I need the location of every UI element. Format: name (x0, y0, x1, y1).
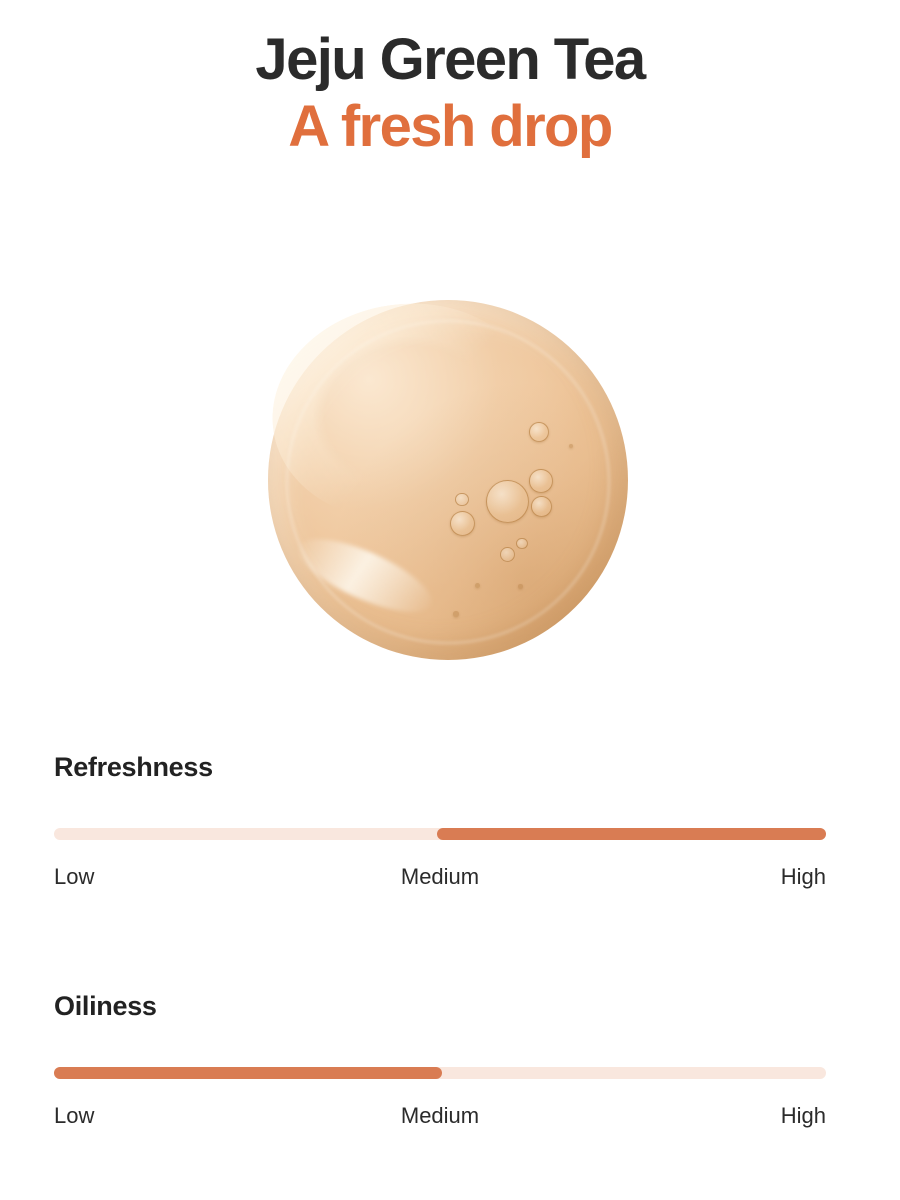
scale-label-low: Low (54, 1103, 94, 1129)
metric-refreshness: Refreshness Low Medium High (54, 752, 826, 892)
metric-refreshness-label: Refreshness (54, 752, 826, 783)
droplet-body (268, 300, 628, 660)
scale-label-high: High (781, 864, 826, 890)
serum-droplet-image (268, 300, 628, 660)
scale-label-low: Low (54, 864, 94, 890)
metric-refreshness-slider-fill (437, 828, 826, 840)
title-secondary: A fresh drop (0, 93, 900, 160)
scale-label-high: High (781, 1103, 826, 1129)
metric-refreshness-scale: Low Medium High (54, 864, 826, 892)
page-title: Jeju Green Tea A fresh drop (0, 26, 900, 161)
metric-refreshness-slider[interactable] (54, 828, 826, 840)
metric-oiliness-slider[interactable] (54, 1067, 826, 1079)
metric-oiliness-label: Oiliness (54, 991, 826, 1022)
scale-label-medium: Medium (401, 1103, 479, 1129)
metric-oiliness-scale: Low Medium High (54, 1103, 826, 1131)
metric-oiliness-slider-fill (54, 1067, 442, 1079)
title-primary: Jeju Green Tea (0, 26, 900, 93)
scale-label-medium: Medium (401, 864, 479, 890)
metric-oiliness: Oiliness Low Medium High (54, 991, 826, 1131)
